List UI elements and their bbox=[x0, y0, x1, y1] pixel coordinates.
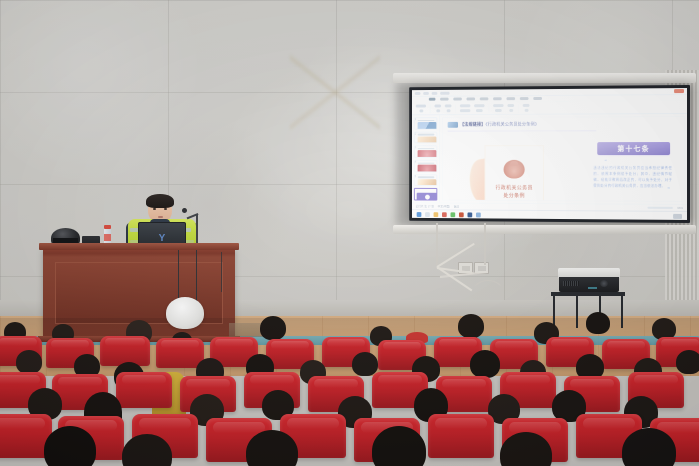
booklet-title-line2: 处分条例 bbox=[486, 193, 543, 201]
projector-indicator-led bbox=[588, 287, 597, 289]
slide-paragraph-1: 违法违纪的行政机关公务员应当承担纪律责任的，依照本条例给予处分；其中，违纪情节轻… bbox=[593, 165, 672, 190]
presenter-eye-left bbox=[153, 208, 156, 210]
tab-file[interactable] bbox=[429, 98, 436, 100]
media-icon[interactable] bbox=[476, 212, 481, 217]
layout-group[interactable] bbox=[445, 105, 452, 112]
slide-thumbnail-panel[interactable]: 1 2 3 bbox=[412, 115, 440, 202]
redo-icon[interactable] bbox=[432, 91, 438, 94]
seat bbox=[428, 414, 494, 458]
projector-vent bbox=[563, 281, 579, 286]
bottle-label bbox=[104, 234, 111, 241]
book-icon bbox=[448, 122, 458, 128]
thumb-number: 5 bbox=[415, 175, 416, 178]
tripod-support-pole-right bbox=[484, 223, 486, 265]
new-slide-group[interactable] bbox=[434, 105, 441, 112]
thumb-number: 3 bbox=[415, 147, 416, 150]
tab-home[interactable] bbox=[440, 98, 448, 100]
arrange-group[interactable] bbox=[507, 104, 514, 111]
presenter-hair bbox=[146, 194, 174, 208]
list-item[interactable]: 2 bbox=[414, 131, 437, 143]
slide-title-underline bbox=[448, 130, 597, 131]
thumb-image bbox=[418, 150, 437, 157]
seat bbox=[156, 338, 204, 368]
thumb-image bbox=[418, 136, 437, 143]
audience-head bbox=[16, 350, 42, 374]
paragraph-group[interactable] bbox=[474, 104, 484, 111]
ribbon-divider bbox=[430, 104, 431, 113]
windows-taskbar[interactable] bbox=[412, 209, 687, 220]
audience-head bbox=[586, 312, 610, 334]
undo-icon[interactable] bbox=[423, 91, 429, 94]
auditorium-photo: 1 2 3 bbox=[0, 0, 699, 466]
seat bbox=[116, 372, 172, 408]
ribbon-toolbar[interactable] bbox=[412, 101, 687, 115]
audience-head bbox=[352, 352, 378, 376]
tab-review[interactable] bbox=[520, 97, 529, 100]
slide-canvas[interactable]: 【法规链接】《行政机关公务员处分条例》 行政机关公务员 处分条例 bbox=[440, 114, 687, 204]
browser-icon[interactable] bbox=[442, 212, 447, 217]
list-item-selected[interactable] bbox=[414, 188, 437, 200]
thumb-title-bar bbox=[418, 134, 435, 135]
quote-close-mark: ❞ bbox=[667, 187, 670, 193]
tab-animations[interactable] bbox=[493, 98, 502, 101]
presenter-mouth bbox=[158, 216, 163, 218]
slide-title-bracket: 【法规链接】 bbox=[460, 122, 486, 127]
thumb-title-bar bbox=[418, 176, 435, 178]
search-icon[interactable] bbox=[425, 212, 430, 217]
projector bbox=[558, 268, 620, 294]
tab-transitions[interactable] bbox=[480, 98, 489, 100]
regulation-booklet-image: 行政机关公务员 处分条例 中国法制出版社 bbox=[485, 145, 544, 202]
audience-head bbox=[470, 350, 500, 378]
thumb-image bbox=[418, 122, 437, 130]
word-icon[interactable] bbox=[467, 212, 472, 217]
status-slide-number: 幻灯片 第 17 张 bbox=[416, 204, 434, 208]
white-helmet bbox=[166, 297, 204, 329]
article-banner-text: 第十七条 bbox=[617, 144, 649, 154]
tray-clock-icon[interactable] bbox=[673, 213, 682, 218]
shapes-group[interactable] bbox=[493, 104, 503, 111]
tab-insert[interactable] bbox=[453, 98, 461, 100]
microphone-head bbox=[182, 208, 187, 213]
screen-bottom-bar bbox=[393, 225, 696, 234]
slide-title-main: 《行政机关公务员处分条例》 bbox=[485, 122, 539, 127]
list-item[interactable]: 3 bbox=[414, 146, 437, 158]
tab-design[interactable] bbox=[467, 98, 476, 100]
screen-frame: 1 2 3 bbox=[409, 85, 690, 223]
ribbon-divider bbox=[455, 104, 456, 113]
ribbon-divider bbox=[518, 104, 519, 113]
screen-top-roller bbox=[393, 73, 696, 83]
wechat-icon[interactable] bbox=[450, 212, 455, 217]
start-icon[interactable] bbox=[417, 212, 422, 217]
slide-header: 【法规链接】《行政机关公务员处分条例》 bbox=[448, 122, 540, 128]
thumb-number: 2 bbox=[415, 132, 416, 135]
current-slide[interactable]: 【法规链接】《行政机关公务员处分条例》 行政机关公务员 处分条例 bbox=[442, 116, 685, 202]
tripod-support-pole-left bbox=[436, 223, 438, 265]
national-emblem-icon bbox=[504, 160, 525, 179]
podium-countertop bbox=[39, 243, 239, 250]
article-banner: 第十七条 bbox=[597, 142, 670, 155]
power-cable-loop bbox=[470, 280, 506, 314]
list-item[interactable]: 5 bbox=[414, 174, 437, 186]
status-notes-button[interactable]: 备注 bbox=[454, 205, 459, 209]
tab-slideshow[interactable] bbox=[506, 97, 515, 100]
audience-head-front bbox=[44, 426, 96, 466]
thumb-image bbox=[418, 179, 437, 187]
powerpoint-icon[interactable] bbox=[459, 212, 464, 217]
slide-title: 【法规链接】《行政机关公务员处分条例》 bbox=[460, 122, 539, 128]
audience-head bbox=[676, 350, 699, 374]
font-group[interactable] bbox=[460, 105, 470, 112]
audience-seating bbox=[0, 310, 699, 466]
thumb-title-bar bbox=[418, 162, 435, 163]
save-icon[interactable] bbox=[415, 92, 421, 95]
bottle-cap bbox=[104, 225, 111, 229]
ribbon-divider bbox=[488, 104, 489, 113]
list-item[interactable]: 4 bbox=[414, 160, 437, 172]
zoom-level: 66% bbox=[677, 206, 683, 210]
presenter-eye-right bbox=[164, 208, 167, 210]
thumb-title-bar bbox=[418, 148, 435, 149]
thumb-image bbox=[418, 165, 437, 172]
booklet-title: 行政机关公务员 处分条例 bbox=[486, 185, 543, 200]
editing-group[interactable] bbox=[523, 104, 530, 111]
tab-view[interactable] bbox=[533, 97, 542, 100]
close-icon[interactable] bbox=[674, 89, 684, 93]
zoom-slider[interactable] bbox=[648, 207, 674, 209]
slide-paragraph-2: 行政机关公务员依法履行职责的行为受法律保护，非因法定事由、非经法定程序，不受处分… bbox=[593, 200, 672, 202]
wall-scuff-mark bbox=[290, 52, 380, 130]
audience-head bbox=[458, 314, 484, 338]
audience-head bbox=[260, 316, 286, 340]
projection-screen: 1 2 3 bbox=[399, 85, 690, 223]
thumb-number: 4 bbox=[415, 161, 416, 164]
paste-group[interactable] bbox=[416, 105, 426, 112]
ppt-main-area: 1 2 3 bbox=[412, 114, 687, 204]
explorer-icon[interactable] bbox=[434, 212, 439, 217]
thumb-number: 1 bbox=[415, 118, 416, 121]
projector-lens bbox=[600, 280, 608, 287]
powerpoint-window[interactable]: 1 2 3 bbox=[412, 88, 687, 220]
status-language[interactable]: 中文(中国) bbox=[438, 204, 450, 208]
thumb-title-bar bbox=[418, 120, 435, 122]
list-item[interactable]: 1 bbox=[414, 117, 437, 129]
document-name-chip bbox=[440, 91, 449, 94]
